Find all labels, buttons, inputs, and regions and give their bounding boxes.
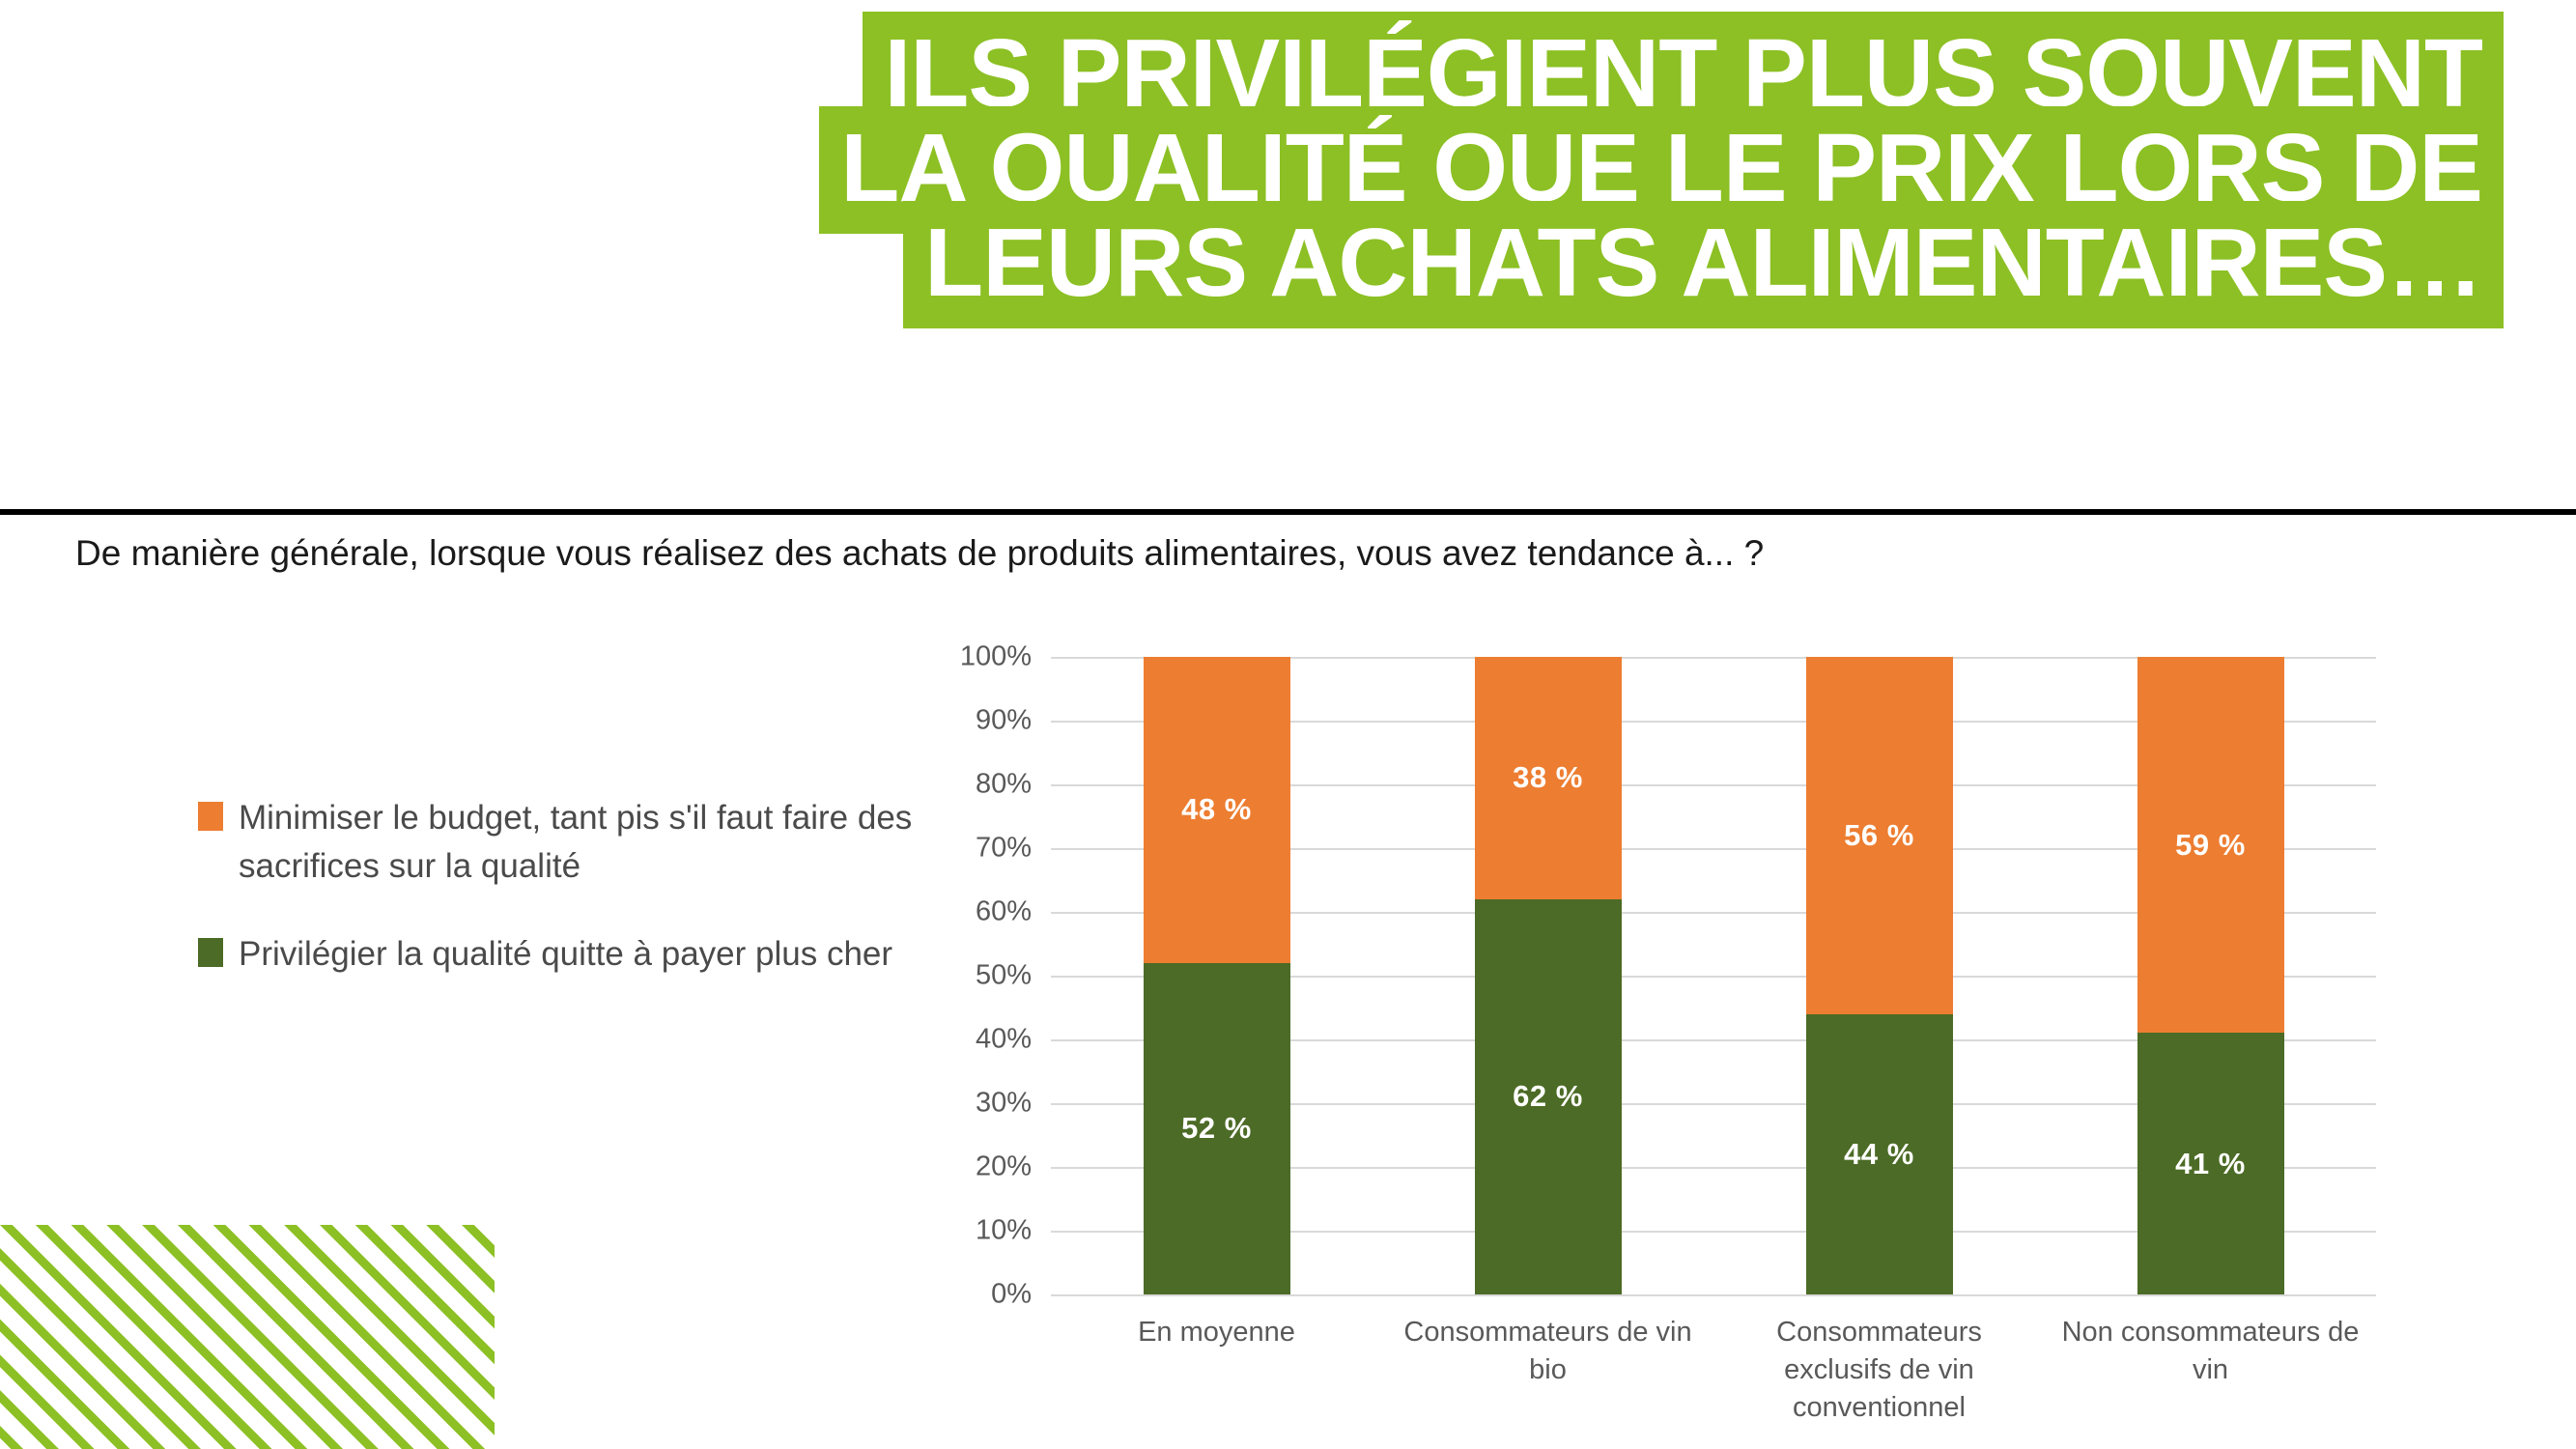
- bars-layer: 48 %52 %38 %62 %56 %44 %59 %41 %: [1051, 657, 2376, 1294]
- y-axis-tick: 30%: [927, 1088, 1032, 1120]
- y-axis-tick: 10%: [927, 1215, 1032, 1247]
- bar-stack[interactable]: 59 %41 %: [2137, 657, 2284, 1294]
- header-divider: [0, 509, 2576, 515]
- legend-item-label: Minimiser le budget, tant pis s'il faut …: [239, 794, 913, 890]
- x-axis-label: Consommateurs exclusifs de vin conventio…: [1713, 1314, 2045, 1427]
- x-axis-label: En moyenne: [1051, 1314, 1382, 1427]
- stripes-svg: [0, 1225, 495, 1449]
- y-axis-tick: 40%: [927, 1024, 1032, 1056]
- y-axis-tick: 80%: [927, 769, 1032, 801]
- legend-item-label: Privilégier la qualité quitte à payer pl…: [239, 930, 892, 979]
- stacked-bar-chart: 0%10%20%30%40%50%60%70%80%90%100% 48 %52…: [927, 638, 2376, 1314]
- bar-value-label: 59 %: [2175, 828, 2246, 863]
- bar-stack[interactable]: 48 %52 %: [1144, 657, 1290, 1294]
- bar-value-label: 62 %: [1513, 1079, 1583, 1114]
- title-line-3: LEURS ACHATS ALIMENTAIRES…: [903, 201, 2504, 328]
- bar-segment-minimiser-budget[interactable]: 48 %: [1144, 657, 1290, 963]
- x-axis-label: Non consommateurs de vin: [2045, 1314, 2376, 1427]
- x-axis-label: Consommateurs de vin bio: [1382, 1314, 1713, 1427]
- bar-value-label: 38 %: [1513, 760, 1583, 795]
- y-axis-tick: 0%: [927, 1279, 1032, 1311]
- bar-stack[interactable]: 38 %62 %: [1475, 657, 1622, 1294]
- legend-swatch-orange-icon: [198, 802, 223, 831]
- bar-segment-privilegier-qualite[interactable]: 62 %: [1475, 899, 1622, 1294]
- y-axis-tick: 90%: [927, 705, 1032, 737]
- y-axis-tick: 100%: [927, 641, 1032, 673]
- bar-value-label: 48 %: [1181, 792, 1252, 827]
- legend-item: Minimiser le budget, tant pis s'il faut …: [198, 794, 913, 890]
- legend-swatch-green-icon: [198, 938, 223, 967]
- y-axis-tick: 70%: [927, 833, 1032, 865]
- y-axis-tick: 20%: [927, 1151, 1032, 1183]
- y-axis-tick: 60%: [927, 896, 1032, 928]
- question-text: De manière générale, lorsque vous réalis…: [75, 533, 1764, 574]
- bar-value-label: 56 %: [1844, 818, 1914, 853]
- bar-stack[interactable]: 56 %44 %: [1806, 657, 1953, 1294]
- bar-value-label: 44 %: [1844, 1137, 1914, 1172]
- bar-segment-privilegier-qualite[interactable]: 44 %: [1806, 1014, 1953, 1294]
- bar-column: 48 %52 %: [1051, 657, 1382, 1294]
- legend-item: Privilégier la qualité quitte à payer pl…: [198, 930, 913, 979]
- y-axis-tick: 50%: [927, 960, 1032, 992]
- bar-value-label: 41 %: [2175, 1147, 2246, 1181]
- y-axis: 0%10%20%30%40%50%60%70%80%90%100%: [927, 638, 1032, 1294]
- plot-area: 48 %52 %38 %62 %56 %44 %59 %41 %: [1051, 657, 2376, 1294]
- bar-value-label: 52 %: [1181, 1111, 1252, 1146]
- gridline: [1051, 1294, 2376, 1296]
- x-axis: En moyenneConsommateurs de vin bioConsom…: [1051, 1314, 2376, 1427]
- bar-segment-privilegier-qualite[interactable]: 52 %: [1144, 963, 1290, 1294]
- diagonal-stripes-decoration: [0, 1225, 495, 1449]
- chart-legend: Minimiser le budget, tant pis s'il faut …: [198, 794, 913, 1019]
- bar-segment-minimiser-budget[interactable]: 38 %: [1475, 657, 1622, 899]
- title-line-3-wrap: LEURS ACHATS ALIMENTAIRES…: [903, 201, 2504, 328]
- title-block: ILS PRIVILÉGIENT PLUS SOUVENT LA QUALITÉ…: [0, 0, 2576, 483]
- bar-column: 59 %41 %: [2045, 657, 2376, 1294]
- bar-segment-minimiser-budget[interactable]: 56 %: [1806, 657, 1953, 1014]
- bar-column: 38 %62 %: [1382, 657, 1713, 1294]
- bar-column: 56 %44 %: [1713, 657, 2045, 1294]
- bar-segment-privilegier-qualite[interactable]: 41 %: [2137, 1033, 2284, 1294]
- bar-segment-minimiser-budget[interactable]: 59 %: [2137, 657, 2284, 1033]
